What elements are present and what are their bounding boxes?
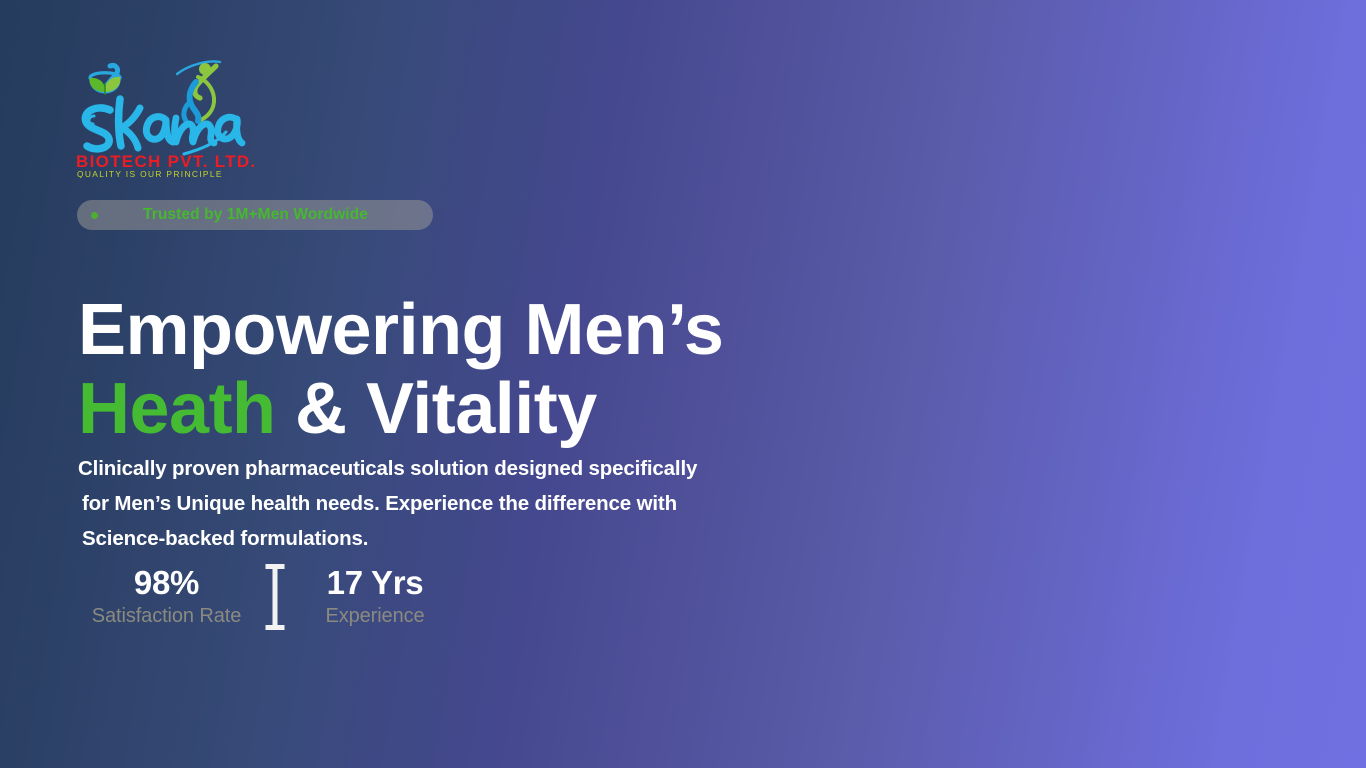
stat-label: Satisfaction Rate <box>78 603 255 629</box>
stat-value: 17 Yrs <box>295 565 455 602</box>
stat-value: 98% <box>78 565 255 602</box>
page-title: Empowering Men’s Heath & Vitality <box>78 291 938 448</box>
headline-line-1: Empowering Men’s <box>78 291 938 369</box>
headline-accent-word: Heath <box>78 369 276 449</box>
leaf-icon <box>90 77 121 94</box>
headline-line-2: Heath & Vitality <box>78 370 938 448</box>
stat-experience: 17 Yrs Experience <box>295 558 455 636</box>
running-person-icon <box>177 62 220 122</box>
status-dot-icon <box>91 212 98 219</box>
divider-cap-bottom <box>266 625 285 630</box>
trust-badge[interactable]: Trusted by 1M+Men Wordwide <box>77 200 433 230</box>
subtitle-line-2: for Men’s Unique health needs. Experienc… <box>78 486 908 521</box>
stat-label: Experience <box>295 603 455 629</box>
i-beam-divider-icon <box>255 560 295 634</box>
hero-banner: BIOTECH PVT. LTD. QUALITY IS OUR PRINCIP… <box>0 0 1366 768</box>
hero-subtitle: Clinically proven pharmaceuticals soluti… <box>78 451 908 557</box>
brand-script-text <box>85 99 242 149</box>
logo-tagline-text: QUALITY IS OUR PRINCIPLE <box>77 169 223 178</box>
headline-line-2-rest: & Vitality <box>276 369 597 449</box>
stats-row: 98% Satisfaction Rate 17 Yrs Experience <box>78 558 455 636</box>
brand-logo-graphic: BIOTECH PVT. LTD. QUALITY IS OUR PRINCIP… <box>74 58 254 178</box>
divider-bar <box>273 564 278 630</box>
brand-logo[interactable]: BIOTECH PVT. LTD. QUALITY IS OUR PRINCIP… <box>74 58 254 178</box>
subtitle-line-1: Clinically proven pharmaceuticals soluti… <box>78 451 908 486</box>
subtitle-line-3: Science-backed formulations. <box>78 521 908 556</box>
trust-badge-label: Trusted by 1M+Men Wordwide <box>98 206 419 224</box>
stat-satisfaction-rate: 98% Satisfaction Rate <box>78 558 255 636</box>
